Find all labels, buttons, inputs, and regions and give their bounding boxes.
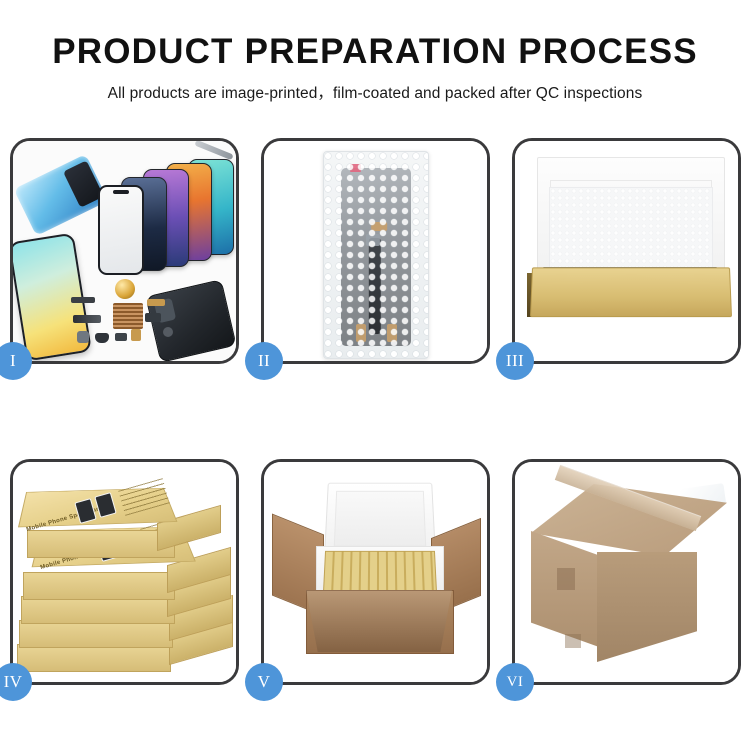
process-step-panel-2[interactable]: II [261, 138, 490, 364]
page-subtitle: All products are image-printed，film-coat… [0, 81, 750, 103]
process-step-panel-6[interactable]: VI [512, 459, 741, 685]
process-step-panel-1[interactable]: I [10, 138, 239, 364]
foam-lid-icon [324, 483, 436, 556]
foam-sheet-icon [549, 187, 713, 269]
step-5-image [264, 462, 487, 682]
kraft-tray-icon [530, 267, 732, 317]
process-step-grid: I II [10, 138, 740, 685]
packed-boxes-icon [323, 551, 437, 594]
step-badge-2: II [245, 342, 283, 380]
page-title: PRODUCT PREPARATION PROCESS [0, 34, 750, 71]
process-step-panel-3[interactable]: III [512, 138, 741, 364]
step-4-image: Mobile Phone Spare Parts Mobile Phone Sp… [13, 462, 236, 682]
step-badge-1: I [0, 342, 32, 380]
bubble-wrap-bag-icon [323, 151, 429, 359]
step-2-image [264, 141, 487, 361]
step-badge-6: VI [496, 663, 534, 701]
process-step-panel-5[interactable]: V [261, 459, 490, 685]
step-1-image [13, 141, 236, 361]
spare-parts-group [71, 283, 191, 353]
page-header: PRODUCT PREPARATION PROCESS All products… [0, 0, 750, 103]
step-badge-3: III [496, 342, 534, 380]
phone-fan-group [94, 157, 234, 272]
step-badge-5: V [245, 663, 283, 701]
step-6-image [515, 462, 738, 682]
box-stack-group: Mobile Phone Spare Parts Mobile Phone Sp… [15, 480, 236, 670]
sealed-carton-icon [531, 484, 727, 660]
step-badge-4: IV [0, 663, 32, 701]
step-3-image [515, 141, 738, 361]
process-step-panel-4[interactable]: Mobile Phone Spare Parts Mobile Phone Sp… [10, 459, 239, 685]
